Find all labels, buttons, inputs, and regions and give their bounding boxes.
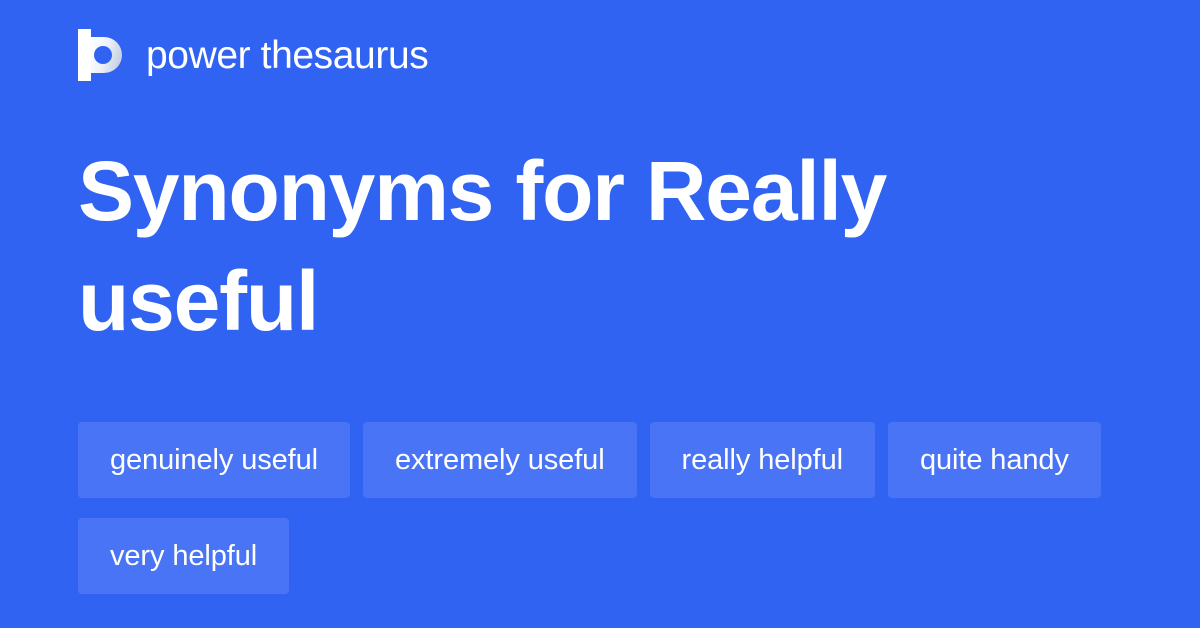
synonym-chip[interactable]: really helpful [650,422,875,498]
synonym-chip[interactable]: very helpful [78,518,289,594]
power-thesaurus-logo-icon [78,29,128,81]
share-card: power thesaurus Synonyms for Really usef… [0,0,1200,628]
brand-header[interactable]: power thesaurus [78,26,428,84]
synonym-chip[interactable]: extremely useful [363,422,637,498]
synonym-chip[interactable]: genuinely useful [78,422,350,498]
synonym-chip[interactable]: quite handy [888,422,1101,498]
page-title: Synonyms for Really useful [78,136,1078,356]
brand-name: power thesaurus [146,36,428,75]
synonym-chip-list: genuinely useful extremely useful really… [78,422,1118,594]
